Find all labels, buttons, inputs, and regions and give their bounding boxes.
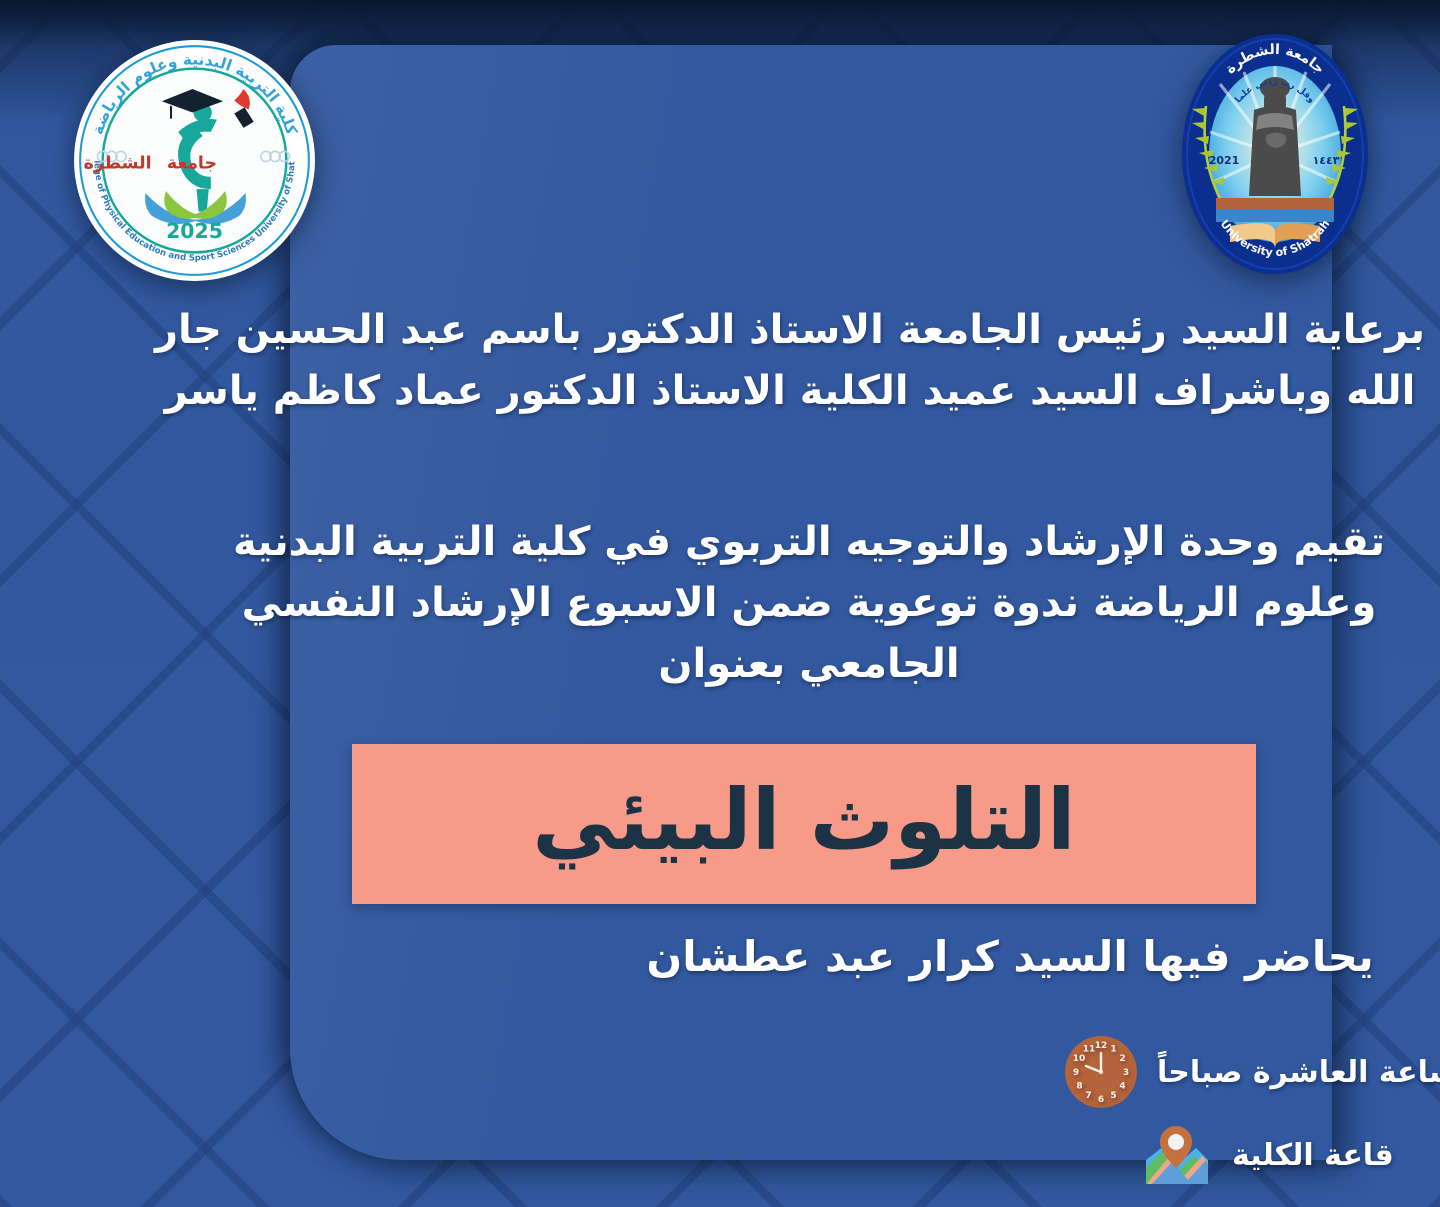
college-of-physical-education-logo: كلية التربية البدنية وعلوم الرياضة Colle… [72, 38, 317, 283]
map-pin-icon [1138, 1120, 1214, 1190]
svg-text:3: 3 [1123, 1068, 1129, 1078]
svg-text:الشطرة: الشطرة [84, 154, 152, 174]
svg-text:6: 6 [1098, 1095, 1104, 1105]
poster-root: برعاية السيد رئيس الجامعة الاستاذ الدكتو… [0, 0, 1440, 1207]
detail-row-time: الساعة العاشرة صباحاً 121 23 45 67 89 10… [1063, 1034, 1440, 1110]
svg-text:جامعة: جامعة [167, 154, 217, 174]
seminar-title-box: التلوث البيئي [352, 744, 1256, 904]
place-label: قاعة الكلية [1232, 1138, 1394, 1173]
svg-text:١٤٤٣: ١٤٤٣ [1313, 154, 1340, 167]
detail-row-place: قاعة الكلية [1138, 1120, 1394, 1190]
svg-text:2: 2 [1119, 1054, 1125, 1064]
svg-text:9: 9 [1073, 1068, 1079, 1078]
clock-icon: 121 23 45 67 89 1011 [1063, 1034, 1139, 1110]
svg-text:11: 11 [1083, 1045, 1096, 1055]
patronage-paragraph: برعاية السيد رئيس الجامعة الاستاذ الدكتو… [140, 300, 1440, 422]
svg-text:5: 5 [1110, 1091, 1116, 1101]
announcement-paragraph: تقيم وحدة الإرشاد والتوجيه التربوي في كل… [178, 512, 1440, 694]
svg-text:2025: 2025 [166, 219, 223, 243]
svg-text:4: 4 [1119, 1082, 1125, 1092]
university-of-shatrah-logo: جامعة الشطرة وقل رب زدني علما University… [1180, 32, 1370, 276]
svg-text:2021: 2021 [1209, 154, 1240, 167]
seminar-title-text: التلوث البيئي [532, 778, 1075, 862]
svg-text:10: 10 [1073, 1054, 1086, 1064]
svg-text:12: 12 [1095, 1041, 1108, 1051]
svg-text:1: 1 [1110, 1045, 1116, 1055]
speaker-line: يحاضر فيها السيد كرار عبد عطشان [580, 930, 1440, 985]
time-label: الساعة العاشرة صباحاً [1157, 1055, 1440, 1090]
svg-text:8: 8 [1076, 1082, 1082, 1092]
svg-text:7: 7 [1085, 1091, 1091, 1101]
